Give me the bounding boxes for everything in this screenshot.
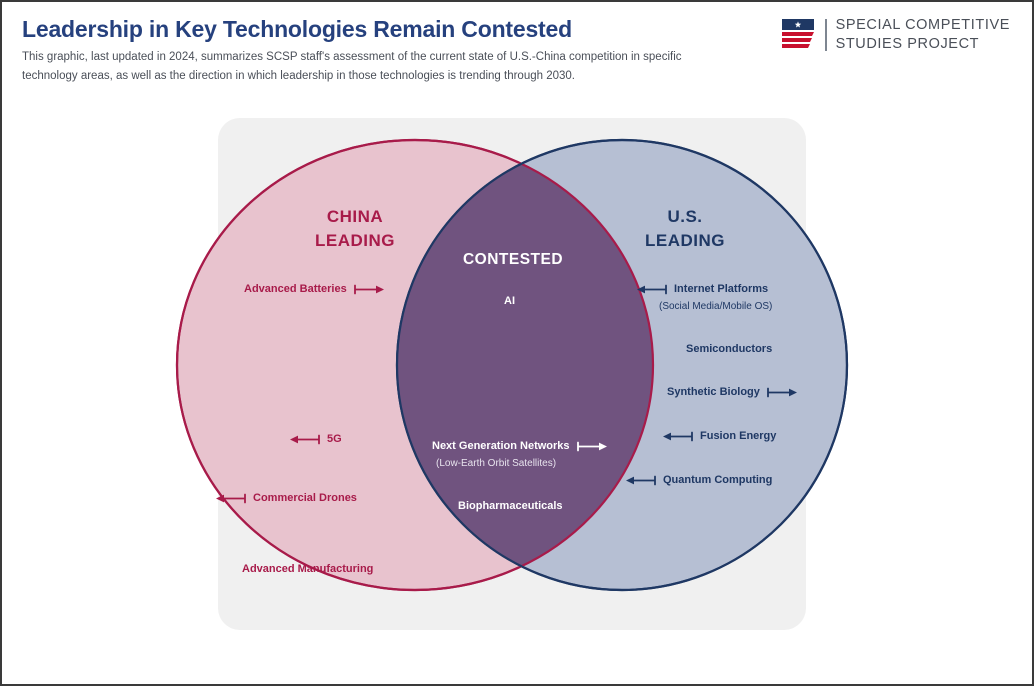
us-item-semiconductors-label: Semiconductors (686, 343, 772, 355)
china-heading-line2: LEADING (285, 229, 425, 253)
china-heading-line1: CHINA (285, 205, 425, 229)
china-item-advanced-batteries-label: Advanced Batteries (244, 283, 347, 295)
contested-heading: CONTESTED (443, 248, 583, 272)
page-subtitle: This graphic, last updated in 2024, summ… (22, 48, 722, 86)
us-item-fusion-energy: Fusion Energy (661, 430, 776, 442)
us-item-quantum-computing: Quantum Computing (624, 474, 772, 486)
contested-item-next-generation-networks: Next Generation Networks (432, 440, 609, 452)
contested-item-ai-label: AI (504, 295, 515, 307)
contested-item-next-generation-networks-sub: (Low-Earth Orbit Satellites) (436, 458, 556, 469)
scsp-logo: SPECIAL COMPETITIVE STUDIES PROJECT (780, 16, 1010, 54)
us-heading-line1: U.S. (615, 205, 755, 229)
venn-diagram: CHINA LEADING Advanced Batteries 5G (2, 102, 1034, 686)
china-item-advanced-batteries: Advanced Batteries (244, 283, 386, 295)
us-item-synthetic-biology: Synthetic Biology (667, 386, 799, 398)
contested-item-next-generation-networks-label: Next Generation Networks (432, 440, 570, 452)
arrow-left-icon (624, 475, 656, 486)
us-item-quantum-computing-label: Quantum Computing (663, 474, 772, 486)
arrow-left-icon (635, 284, 667, 295)
us-item-internet-platforms: Internet Platforms (635, 283, 768, 295)
china-item-commercial-drones-label: Commercial Drones (253, 492, 357, 504)
us-heading: U.S. LEADING (615, 205, 755, 253)
logo-text: SPECIAL COMPETITIVE STUDIES PROJECT (836, 16, 1010, 54)
infographic-page: Leadership in Key Technologies Remain Co… (0, 0, 1034, 686)
diagram-labels: CHINA LEADING Advanced Batteries 5G (2, 102, 1034, 686)
us-item-internet-platforms-sub: (Social Media/Mobile OS) (659, 301, 772, 312)
contested-item-ai: AI (504, 295, 515, 307)
logo-divider (825, 19, 827, 51)
header: Leadership in Key Technologies Remain Co… (2, 2, 1034, 102)
arrow-right-icon (767, 387, 799, 398)
us-item-semiconductors: Semiconductors (686, 343, 772, 355)
page-title: Leadership in Key Technologies Remain Co… (22, 16, 572, 43)
arrow-right-icon (577, 441, 609, 452)
china-item-commercial-drones: Commercial Drones (214, 492, 357, 504)
us-heading-line2: LEADING (615, 229, 755, 253)
arrow-right-icon (354, 284, 386, 295)
scsp-flag-icon (780, 18, 816, 52)
china-item-5g-label: 5G (327, 433, 342, 445)
contested-item-biopharmaceuticals: Biopharmaceuticals (458, 500, 563, 512)
china-item-advanced-manufacturing-label: Advanced Manufacturing (242, 563, 373, 575)
arrow-left-icon (288, 434, 320, 445)
contested-item-biopharmaceuticals-label: Biopharmaceuticals (458, 500, 563, 512)
arrow-left-icon (214, 493, 246, 504)
china-item-5g: 5G (288, 433, 342, 445)
china-heading: CHINA LEADING (285, 205, 425, 253)
arrow-left-icon (661, 431, 693, 442)
us-item-synthetic-biology-label: Synthetic Biology (667, 386, 760, 398)
us-item-internet-platforms-label: Internet Platforms (674, 283, 768, 295)
us-item-fusion-energy-label: Fusion Energy (700, 430, 776, 442)
china-item-advanced-manufacturing: Advanced Manufacturing (242, 563, 373, 575)
